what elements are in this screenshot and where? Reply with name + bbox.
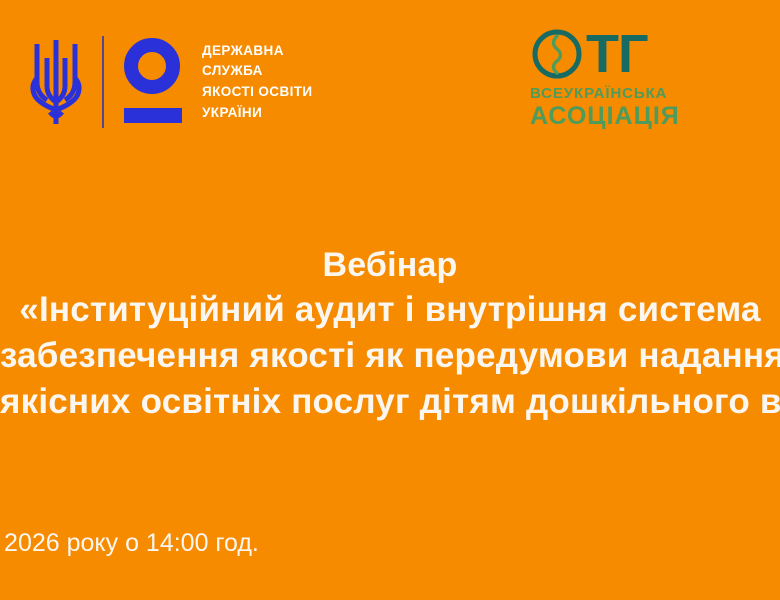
ukraine-trident-icon [26, 34, 86, 130]
otg-letters: ТГ [586, 28, 648, 80]
otg-subtitle-line-2: АСОЦІАЦІЯ [530, 103, 680, 131]
webinar-kicker: Вебінар [0, 243, 780, 287]
otg-wordmark: ТГ [530, 26, 680, 82]
logo-text-line-2: СЛУЖБА [202, 61, 313, 82]
state-education-quality-service-logo: ДЕРЖАВНА СЛУЖБА ЯКОСТІ ОСВІТИ УКРАЇНИ [26, 32, 313, 132]
otg-subtitle-line-1: ВСЕУКРАЇНСЬКА [530, 86, 680, 102]
webinar-date-time: 26 лютого 2026 року о 14:00 год. [0, 527, 780, 559]
logo-text-line-3: ЯКОСТІ ОСВІТИ [202, 82, 313, 103]
logo-divider [102, 36, 104, 128]
logo-text-line-4: УКРАЇНИ [202, 103, 313, 124]
logo-row: ДЕРЖАВНА СЛУЖБА ЯКОСТІ ОСВІТИ УКРАЇНИ ТГ… [0, 0, 780, 160]
otg-circle-icon [530, 27, 584, 81]
webinar-title-line-3: якісних освітніх послуг дітям дошкільног… [0, 379, 780, 425]
webinar-title-line-2: забезпечення якості як передумови наданн… [0, 333, 780, 379]
bar-shape [124, 108, 182, 123]
webinar-announcement-banner: ДЕРЖАВНА СЛУЖБА ЯКОСТІ ОСВІТИ УКРАЇНИ ТГ… [0, 0, 780, 600]
otg-association-logo: ТГ ВСЕУКРАЇНСЬКА АСОЦІАЦІЯ [530, 26, 680, 130]
logo-text-line-1: ДЕРЖАВНА [202, 41, 313, 62]
ring-shape [124, 38, 180, 94]
webinar-title-block: Вебінар «Інституційний аудит і внутрішня… [0, 243, 780, 425]
webinar-title-line-1: «Інституційний аудит і внутрішня система [0, 287, 780, 333]
quality-service-ring-icon [122, 36, 184, 128]
state-service-name-text: ДЕРЖАВНА СЛУЖБА ЯКОСТІ ОСВІТИ УКРАЇНИ [202, 41, 313, 123]
